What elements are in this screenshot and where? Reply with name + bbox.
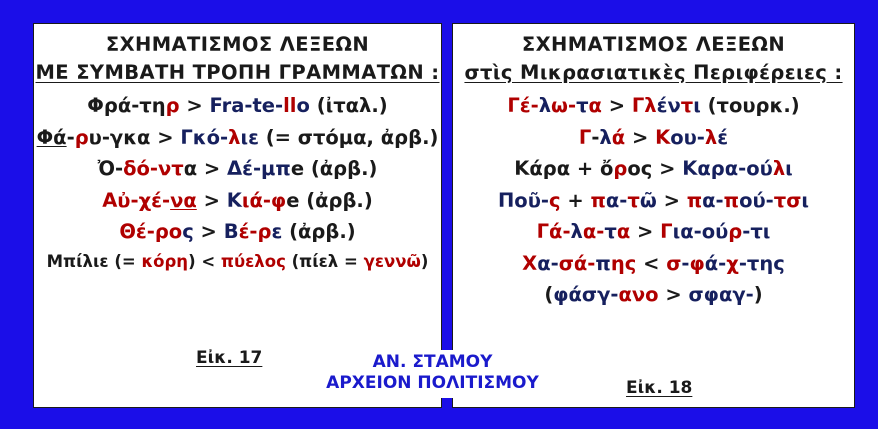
entry-segment: Καρα-ού: [682, 157, 773, 180]
right-panel-heading: ΣΧΗΜΑΤΙΣΜΟΣ ΛΕΞΕΩΝ στὶς Μικρασιατικὲς Πε…: [453, 31, 854, 86]
word-formation-entry: Γέ-λω-τα > Γλέντι (τουρκ.): [453, 96, 854, 116]
entry-segment: τ: [604, 220, 616, 243]
entry-segment: >: [194, 220, 224, 243]
entry-segment: ρ: [728, 220, 742, 243]
entry-segment: Μπίλιε (=: [47, 252, 142, 271]
entry-segment: ι: [693, 94, 701, 117]
entry-segment: Αὐ-χέ-: [102, 189, 170, 212]
entry-segment: ll: [283, 94, 296, 117]
entry-segment: α-: [702, 189, 724, 212]
entry-segment: ρ: [166, 94, 180, 117]
entry-segment: σφαγ-: [689, 283, 754, 306]
entry-segment: λ: [599, 126, 611, 149]
entry-segment: (ἀρβ.): [304, 157, 377, 180]
entry-segment: έ-ρ: [239, 220, 272, 243]
entry-segment: Κάρα + ὄ: [514, 157, 613, 180]
entry-segment: ανο: [619, 283, 659, 306]
entry-segment: >: [652, 157, 682, 180]
entry-segment: ι: [785, 157, 793, 180]
entry-segment: -τι: [742, 220, 770, 243]
entry-segment: (πίελ =: [286, 252, 364, 271]
entry-segment: +: [561, 189, 591, 212]
entry-segment: ά-: [705, 252, 727, 275]
entry-segment: ): [754, 283, 763, 306]
entry-segment: α: [617, 220, 630, 243]
entry-segment: ος: [627, 157, 652, 180]
entry-segment: λ: [228, 126, 240, 149]
right-heading-line-2: στὶς Μικρασιατικὲς Περιφέρειες :: [453, 59, 854, 87]
left-panel-content: ΣΧΗΜΑΤΙΣΜΟΣ ΛΕΞΕΩΝ ΜΕ ΣΥΜΒΑΤΗ ΤΡΟΠΗ ΓΡΑΜ…: [34, 24, 441, 270]
entry-segment: κόρη: [141, 252, 188, 271]
entry-segment: λ: [539, 94, 551, 117]
slide-canvas: ΣΧΗΜΑΤΙΣΜΟΣ ΛΕΞΕΩΝ ΜΕ ΣΥΜΒΑΤΗ ΤΡΟΠΗ ΓΡΑΜ…: [0, 0, 878, 429]
figure-caption-left: Εἰκ. 17: [196, 348, 262, 368]
entry-segment: α-: [537, 252, 559, 275]
entry-segment: φ: [690, 252, 705, 275]
entry-segment: Φά: [37, 126, 67, 149]
entry-segment: υ-γκα: [89, 126, 151, 149]
entry-segment: π: [687, 189, 702, 212]
credit-author: ΑΝ. ΣΤΑΜΟΥ: [303, 352, 562, 373]
entry-segment: π: [595, 252, 610, 275]
word-formation-entry: (φάσγ-ανο > σφαγ-): [453, 285, 854, 305]
entry-segment: ς: [549, 189, 561, 212]
entry-segment: -: [681, 252, 689, 275]
entry-segment: >: [197, 189, 227, 212]
entry-segment: Κ: [655, 126, 670, 149]
entry-segment: Φρά-τη: [87, 94, 165, 117]
entry-segment: Θέ-ρο: [119, 220, 182, 243]
entry-segment: φάσγ-: [553, 283, 618, 306]
entry-segment: α: [184, 157, 197, 180]
entry-segment: τ: [627, 189, 639, 212]
right-entry-list: Γέ-λω-τα > Γλέντι (τουρκ.)Γ-λά > Κου-λέΚ…: [453, 96, 854, 305]
credit-archive: ΑΡΧΕΙΟΝ ΠΟΛΙΤΙΣΜΟΥ: [303, 373, 562, 394]
entry-segment: >: [180, 94, 210, 117]
entry-segment: ε: [271, 220, 282, 243]
entry-segment: Γκό-: [180, 126, 228, 149]
word-formation-entry: Ποῦ-ς + πα-τῶ > πα-πού-τσι: [453, 191, 854, 211]
entry-segment: (ἀρβ.): [299, 189, 372, 212]
entry-segment: γεννῶ: [364, 252, 421, 271]
entry-segment: Ὀ-: [98, 157, 123, 180]
entry-segment: o: [297, 94, 310, 117]
word-formation-entry: Γ-λά > Κου-λέ: [453, 128, 854, 148]
entry-segment: ου-: [670, 126, 705, 149]
entry-segment: >: [659, 283, 689, 306]
entry-segment: -: [67, 126, 75, 149]
entry-segment: α: [589, 94, 602, 117]
entry-segment: να: [170, 189, 197, 212]
word-formation-entry: Χα-σά-πης < σ-φά-χ-της: [453, 254, 854, 274]
word-formation-entry: Ὀ-δό-ντα > Δέ-μπe (ἀρβ.): [34, 159, 441, 179]
entry-segment: ης: [611, 252, 636, 275]
entry-segment: πύελος: [221, 252, 286, 271]
entry-segment: ι: [801, 189, 809, 212]
word-formation-entry: Αὐ-χέ-να > Κιά-φe (ἀρβ.): [34, 191, 441, 211]
entry-segment: ά: [612, 126, 625, 149]
right-heading-line-1: ΣΧΗΜΑΤΙΣΜΟΣ ΛΕΞΕΩΝ: [453, 31, 854, 59]
entry-segment: χ: [726, 252, 739, 275]
entry-segment: >: [625, 126, 655, 149]
entry-segment: Χ: [522, 252, 537, 275]
entry-segment: Γ: [660, 220, 672, 243]
entry-segment: Δέ-μπ: [227, 157, 291, 180]
entry-segment: σά-: [559, 252, 596, 275]
left-panel-heading: ΣΧΗΜΑΤΙΣΜΟΣ ΛΕΞΕΩΝ ΜΕ ΣΥΜΒΑΤΗ ΤΡΟΠΗ ΓΡΑΜ…: [34, 31, 441, 86]
left-heading-line-1: ΣΧΗΜΑΤΙΣΜΟΣ ΛΕΞΕΩΝ: [34, 31, 441, 59]
word-formation-entry: Μπίλιε (= κόρη) < πύελος (πίελ = γεννῶ): [34, 254, 441, 271]
entry-segment: ) <: [188, 252, 221, 271]
entry-segment: ιε: [241, 126, 259, 149]
entry-segment: >: [630, 220, 660, 243]
entry-segment: τ: [681, 94, 693, 117]
word-formation-entry: Φά-ρυ-γκα > Γκό-λιε (= στόμα, ἀρβ.): [34, 128, 441, 148]
entry-segment: σ: [666, 252, 681, 275]
entry-segment: τ: [576, 94, 588, 117]
entry-segment: ρ: [75, 126, 89, 149]
entry-segment: έν: [657, 94, 681, 117]
entry-segment: π: [724, 189, 739, 212]
entry-segment: α-: [583, 220, 605, 243]
word-formation-entry: Κάρα + ὄρος > Καρα-ούλι: [453, 159, 854, 179]
entry-segment: (: [544, 283, 553, 306]
entry-segment: ια-ού: [673, 220, 729, 243]
entry-segment: Κ: [227, 189, 242, 212]
entry-segment: >: [602, 94, 632, 117]
entry-segment: >: [657, 189, 687, 212]
left-entry-list: Φρά-τηρ > Fra-te-llo (ἰταλ.)Φά-ρυ-γκα > …: [34, 96, 441, 270]
entry-segment: ς: [182, 220, 194, 243]
entry-segment: α-: [606, 189, 628, 212]
figure-caption-right: Εἰκ. 18: [626, 378, 692, 398]
entry-segment: π: [590, 189, 605, 212]
credit-watermark: ΑΝ. ΣΤΑΜΟΥ ΑΡΧΕΙΟΝ ΠΟΛΙΤΙΣΜΟΥ: [303, 350, 562, 398]
entry-segment: λ: [705, 126, 717, 149]
entry-segment: ιά-φ: [242, 189, 286, 212]
entry-segment: Γέ-: [507, 94, 538, 117]
entry-segment: <: [636, 252, 666, 275]
entry-segment: ρ: [613, 157, 627, 180]
entry-segment: >: [150, 126, 180, 149]
entry-segment: δό-ντ: [123, 157, 184, 180]
entry-segment: έ: [717, 126, 728, 149]
entry-segment: λ: [571, 220, 583, 243]
entry-segment: ω-: [551, 94, 576, 117]
word-formation-entry: Θέ-ρος > Βέ-ρε (ἀρβ.): [34, 222, 441, 242]
entry-segment: ῶ: [640, 189, 657, 212]
entry-segment: Ποῦ-: [498, 189, 549, 212]
right-panel-content: ΣΧΗΜΑΤΙΣΜΟΣ ΛΕΞΕΩΝ στὶς Μικρασιατικὲς Πε…: [453, 24, 854, 305]
entry-segment: (τουρκ.): [701, 94, 800, 117]
entry-segment: τσ: [774, 189, 802, 212]
entry-segment: ού-: [739, 189, 774, 212]
entry-segment: >: [197, 157, 227, 180]
entry-segment: Γά-: [537, 220, 571, 243]
entry-segment: e: [286, 189, 299, 212]
entry-segment: -της: [739, 252, 785, 275]
word-formation-entry: Γά-λα-τα > Για-ούρ-τι: [453, 222, 854, 242]
left-heading-line-2: ΜΕ ΣΥΜΒΑΤΗ ΤΡΟΠΗ ΓΡΑΜΜΑΤΩΝ :: [34, 59, 441, 87]
entry-segment: e: [291, 157, 304, 180]
entry-segment: Γ: [579, 126, 591, 149]
entry-segment: (= στόμα, ἀρβ.): [259, 126, 438, 149]
entry-segment: λ: [773, 157, 785, 180]
entry-segment: Fra-te-: [210, 94, 284, 117]
entry-segment: (ἰταλ.): [310, 94, 388, 117]
entry-segment: ): [421, 252, 429, 271]
entry-segment: (ἀρβ.): [282, 220, 355, 243]
word-formation-entry: Φρά-τηρ > Fra-te-llo (ἰταλ.): [34, 96, 441, 116]
entry-segment: Β: [224, 220, 239, 243]
entry-segment: Γλ: [632, 94, 657, 117]
